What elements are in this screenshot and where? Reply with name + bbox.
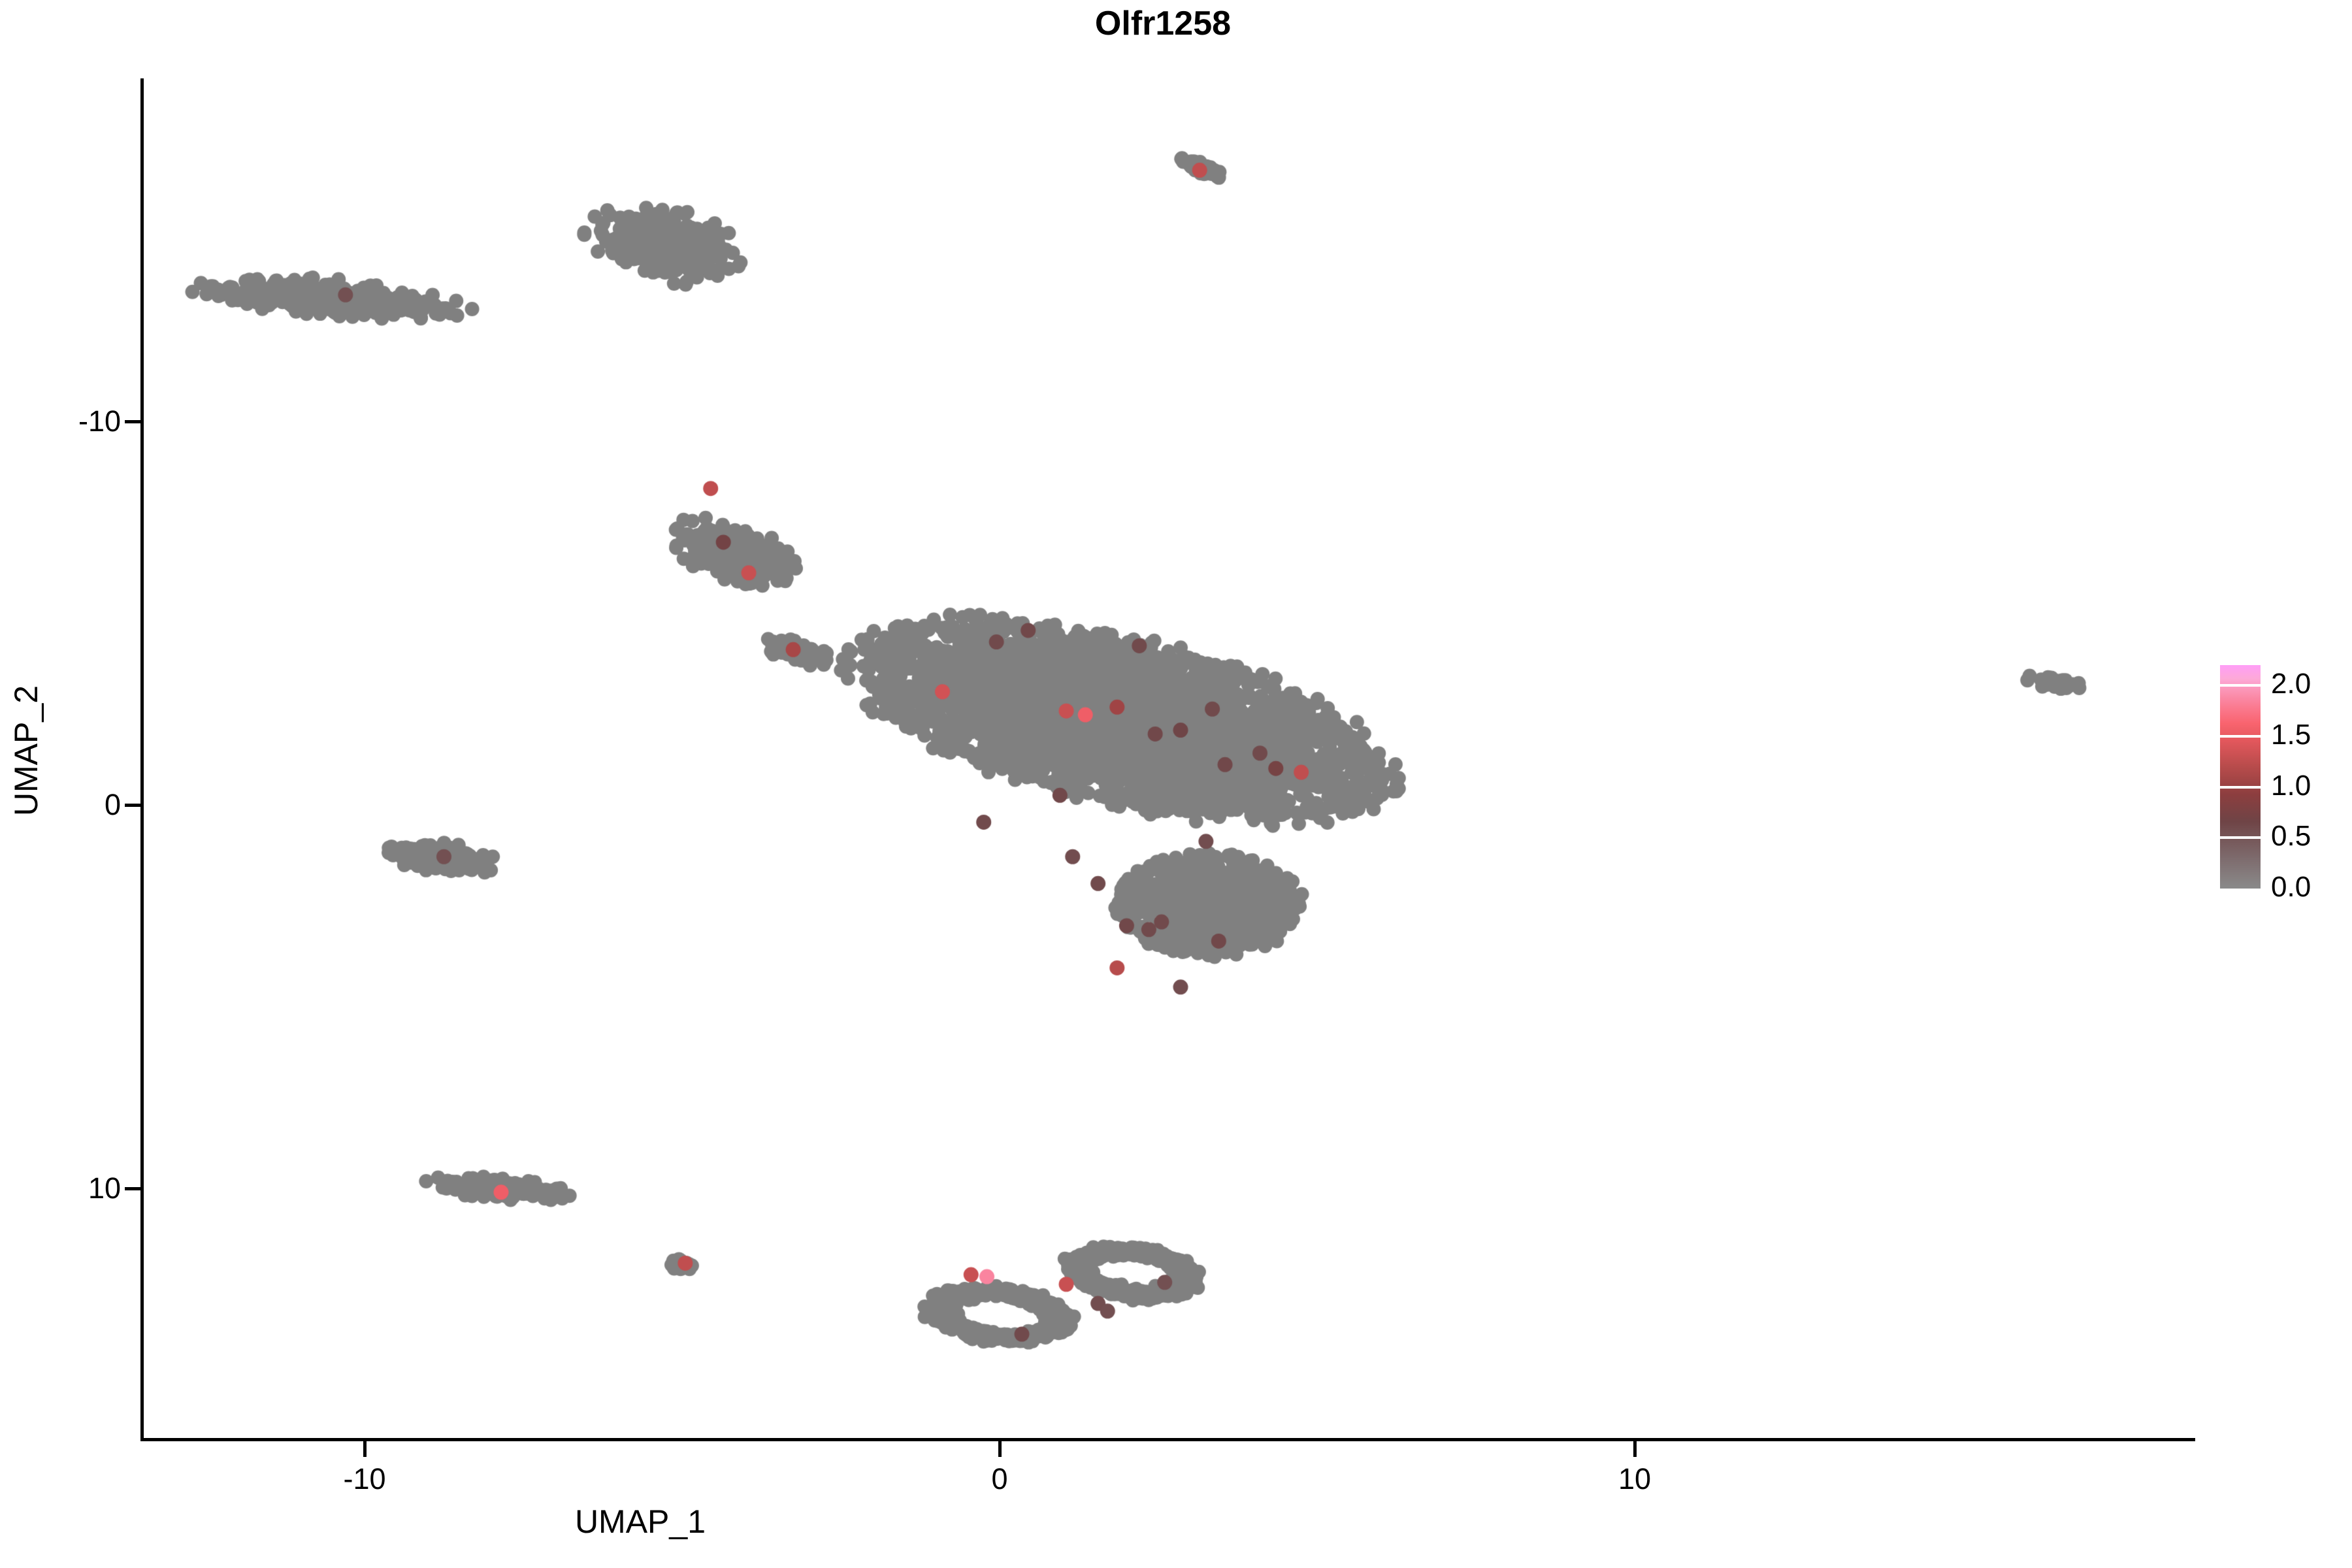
color-legend-gradient-bar [2220,665,2261,889]
legend-tick-label: 1.5 [2271,721,2311,749]
y-axis-tick-label: 10 [0,1171,121,1205]
x-axis-tick-label: -10 [267,1462,463,1496]
y-axis-tick-label: -10 [0,404,121,438]
color-legend: 2.0 1.5 1.0 0.5 0.0 [2220,665,2351,894]
legend-tick-label: 2.0 [2271,670,2311,698]
legend-tick-mark [2220,684,2261,687]
x-axis-line [140,1438,2195,1441]
legend-tick-label: 0.5 [2271,822,2311,851]
x-axis-tick-mark [998,1441,1002,1457]
x-axis-tick-label: 10 [1537,1462,1733,1496]
x-axis-tick-mark [363,1441,367,1457]
x-axis-title: UMAP_1 [0,1503,2352,1541]
y-axis-tick-mark [125,420,140,423]
y-axis-tick-mark [125,1187,140,1190]
legend-tick-mark [2220,735,2261,738]
y-axis-tick-mark [125,804,140,807]
legend-tick-label: 0.0 [2271,873,2311,902]
umap-feature-plot: Olfr1258 10 0 -10 -10 0 10 UMAP_1 UMAP_2… [0,0,2352,1568]
y-axis-title: UMAP_2 [7,613,45,888]
x-axis-tick-mark [1633,1441,1637,1457]
scatter-plot-canvas [0,0,2352,1568]
x-axis-tick-label: 0 [902,1462,1098,1496]
legend-tick-label: 1.0 [2271,772,2311,800]
y-axis-line [140,78,144,1441]
legend-tick-mark [2220,786,2261,789]
x-axis-title-text: UMAP_1 [575,1503,706,1540]
legend-tick-mark [2220,836,2261,839]
